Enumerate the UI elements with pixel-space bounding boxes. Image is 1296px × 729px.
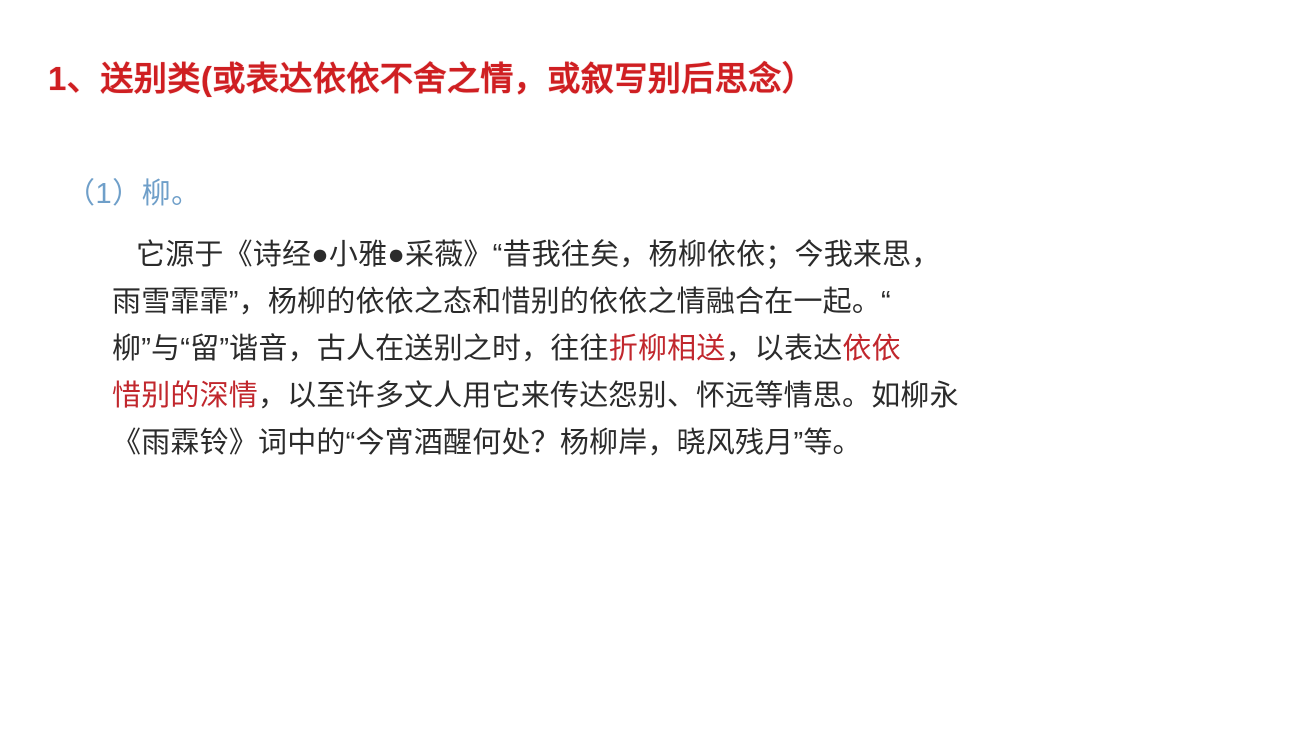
body-text-segment-highlight: 依依 [842, 333, 900, 365]
body-text-segment: 雨雪霏霏”，杨柳的依依之态和惜别的依依之情融合在一起。“ [112, 286, 891, 318]
body-text-segment: 它源于《诗经●小雅●采薇》“昔我往矣，杨柳依依；今我来思， [136, 239, 941, 271]
body-text-segment-highlight: 折柳相送 [609, 333, 726, 365]
body-text-segment: ，以至许多文人用它来传达怨别、怀远等情思。如柳永 [258, 380, 959, 412]
slide-canvas: 1、送别类(或表达依依不舍之情，或叙写别后思念） （1）柳。 它源于《诗经●小雅… [0, 0, 1296, 729]
body-line-1: 它源于《诗经●小雅●采薇》“昔我往矣，杨柳依依；今我来思， [112, 232, 1194, 279]
body-line-3: 柳”与“留”谐音，古人在送别之时，往往折柳相送，以表达依依 [112, 326, 1194, 373]
misty-mountain-ink-wash-decoration [0, 539, 1296, 729]
body-text-segment: 柳”与“留”谐音，古人在送别之时，往往 [112, 333, 609, 365]
body-paragraph: 它源于《诗经●小雅●采薇》“昔我往矣，杨柳依依；今我来思，雨雪霏霏”，杨柳的依依… [112, 232, 1194, 467]
body-text-segment: 《雨霖铃》词中的“今宵酒醒何处？杨柳岸，晓风残月”等。 [112, 427, 862, 459]
body-text-segment: ，以表达 [726, 333, 843, 365]
body-text-segment-highlight: 惜别的深情 [112, 380, 258, 412]
sub-heading-liu: （1）柳。 [66, 174, 201, 214]
slide-title: 1、送别类(或表达依依不舍之情，或叙写别后思念） [48, 57, 815, 101]
body-line-2: 雨雪霏霏”，杨柳的依依之态和惜别的依依之情融合在一起。“ [112, 279, 1194, 326]
body-line-4: 惜别的深情，以至许多文人用它来传达怨别、怀远等情思。如柳永 [112, 373, 1194, 420]
body-line-5: 《雨霖铃》词中的“今宵酒醒何处？杨柳岸，晓风残月”等。 [112, 420, 1194, 467]
